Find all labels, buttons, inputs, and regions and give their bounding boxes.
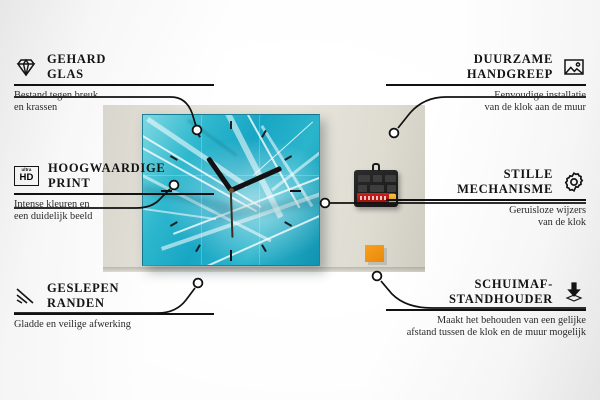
feature-description: Intense kleuren en een duidelijk beeld: [14, 199, 214, 224]
feature-geslepen-randen[interactable]: GESLEPEN RANDEN Gladde en veilige afwerk…: [14, 281, 214, 331]
connector-dot-4: [390, 129, 399, 138]
gear-icon: [562, 170, 586, 194]
feature-heading: STILLE MECHANISME: [386, 167, 586, 196]
feature-schuimafstandhouder[interactable]: SCHUIMAF- STANDHOUDER Maakt het behouden…: [386, 277, 586, 340]
feature-title: GEHARD GLAS: [47, 52, 106, 81]
picture-frame-icon: [562, 55, 586, 79]
feature-description: Maakt het behouden van een gelijke afsta…: [386, 315, 586, 340]
feature-hoogwaardige-print[interactable]: ultra HD HOOGWAARDIGE PRINT Intense kleu…: [14, 161, 214, 224]
feature-heading: DUURZAME HANDGREEP: [386, 52, 586, 81]
feature-underline: [386, 84, 586, 86]
feature-heading: ultra HD HOOGWAARDIGE PRINT: [14, 161, 214, 190]
feature-description: Eenvoudige installatie van de klok aan d…: [386, 90, 586, 115]
feature-title: HOOGWAARDIGE PRINT: [48, 161, 165, 190]
spacer-arrow-icon: [562, 280, 586, 304]
infographic-canvas: GEHARD GLAS Bestand tegen breuk en krass…: [0, 0, 600, 400]
feature-duurzame-handgreep[interactable]: DUURZAME HANDGREEP Eenvoudige installati…: [386, 52, 586, 115]
feature-title: GESLEPEN RANDEN: [47, 281, 119, 310]
bevelled-edges-icon: [14, 284, 38, 308]
feature-underline: [386, 199, 586, 201]
feature-heading: SCHUIMAF- STANDHOUDER: [386, 277, 586, 306]
connector-dot-5: [321, 199, 330, 208]
feature-title: DUURZAME HANDGREEP: [467, 52, 553, 81]
feature-underline: [14, 193, 214, 195]
feature-gehard-glas[interactable]: GEHARD GLAS Bestand tegen breuk en krass…: [14, 52, 214, 115]
feature-underline: [14, 313, 214, 315]
connector-dot-1: [193, 126, 202, 135]
feature-heading: GEHARD GLAS: [14, 52, 214, 81]
feature-underline: [14, 84, 214, 86]
ultra-hd-icon: ultra HD: [14, 166, 39, 186]
feature-description: Geruisloze wijzers van de klok: [386, 205, 586, 230]
connector-dot-6: [373, 272, 382, 281]
feature-description: Bestand tegen breuk en krassen: [14, 90, 214, 115]
feature-title: SCHUIMAF- STANDHOUDER: [449, 277, 553, 306]
feature-title: STILLE MECHANISME: [457, 167, 553, 196]
feature-underline: [386, 309, 586, 311]
feature-description: Gladde en veilige afwerking: [14, 319, 214, 332]
diamond-icon: [14, 55, 38, 79]
feature-heading: GESLEPEN RANDEN: [14, 281, 214, 310]
feature-stille-mechanisme[interactable]: STILLE MECHANISME Geruisloze wijzers van…: [386, 167, 586, 230]
